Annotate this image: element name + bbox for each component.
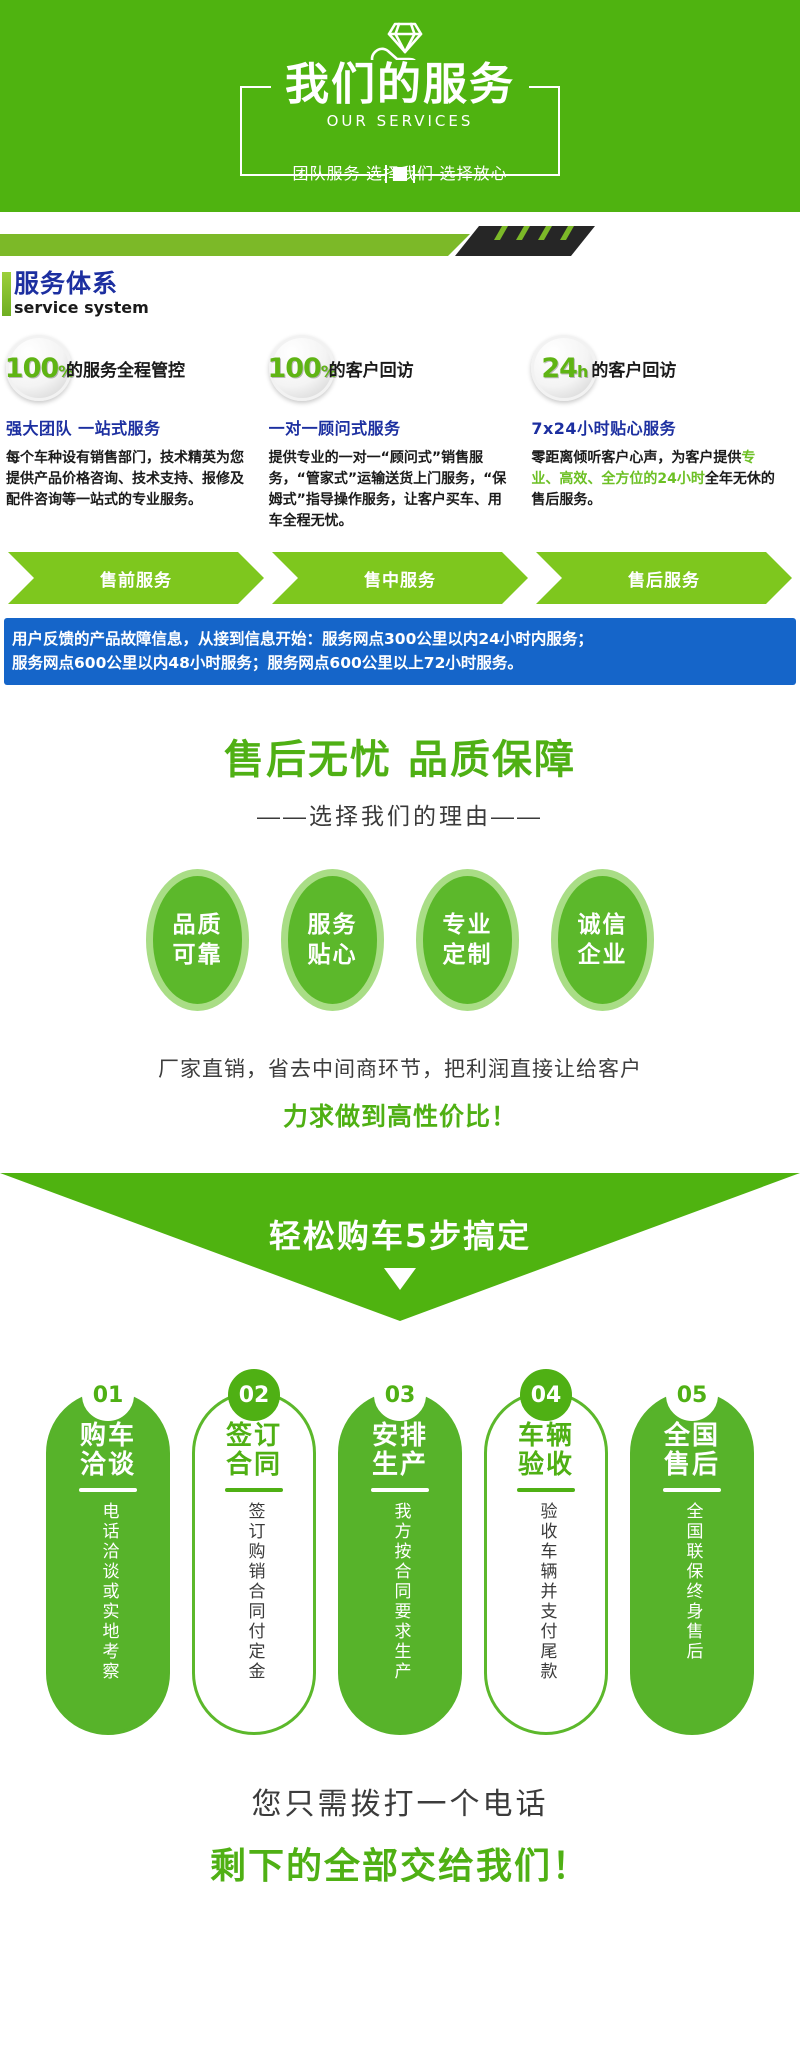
phase-arrow-presale[interactable]: 售前服务 [8,552,264,604]
step-description: 我方按合同要求生产 [389,1502,412,1712]
badge-item: 24h 的客户回访 [531,335,794,401]
step-card: 车辆 验收 验收车辆并支付尾款 [484,1391,608,1735]
step-heading: 签订 合同 [226,1422,282,1480]
reasons-subtitle: ——选择我们的理由—— [0,797,800,831]
reason-oval: 诚信 企业 [551,869,654,1011]
step-number-badge: 04 [520,1369,572,1421]
badge-number: 100% [5,353,73,384]
step-heading-line2: 验收 [518,1451,574,1480]
feature-title: 7x24小时贴心服务 [531,415,778,439]
badge-circle-icon: 100% [6,335,72,401]
step-number-badge: 05 [666,1369,718,1421]
badge-circle-icon: 100% [269,335,335,401]
step-heading: 车辆 验收 [518,1422,574,1480]
phase-arrow-duringsale[interactable]: 售中服务 [272,552,528,604]
footer-line-2: 剩下的全部交给我们！ [0,1837,800,1923]
step-card: 签订 合同 签订购销合同付定金 [192,1391,316,1735]
decorative-ribbon [0,220,800,260]
purchase-step-01[interactable]: 01 购车 洽谈 电话洽谈或实地考察 [46,1369,170,1735]
big-arrow-label: 轻松购车5步搞定 [0,1211,800,1257]
feature-column: 一对一顾问式服务 提供专业的一对一“顾问式”销售服务，“管家式”运输送货上门服务… [269,415,532,532]
badge-item: 100% 的服务全程管控 [6,335,269,401]
step-heading-line1: 车辆 [518,1422,574,1451]
step-heading: 安排 生产 [372,1422,428,1480]
policy-line-2: 服务网点600公里以内48小时服务；服务网点600公里以上72小时服务。 [12,651,788,675]
step-heading-line2: 生产 [372,1451,428,1480]
step-card: 购车 洽谈 电话洽谈或实地考察 [46,1391,170,1735]
step-heading-line2: 合同 [226,1451,282,1480]
reason-oval-line1: 诚信 [578,910,628,940]
service-landing-page: 我们的服务 OUR SERVICES ——团队服务 选择我们 选择放心—— 服务… [0,0,800,2061]
step-heading: 全国 售后 [664,1422,720,1480]
step-card: 全国 售后 全国联保终身售后 [630,1391,754,1735]
badge-label: 的客户回访 [591,356,676,381]
purchase-step-row: 01 购车 洽谈 电话洽谈或实地考察 02 签订 合同 签订购销合同付定金 [0,1369,800,1735]
phase-arrow-aftersale[interactable]: 售后服务 [536,552,792,604]
purchase-steps-banner: 轻松购车5步搞定 [0,1173,800,1323]
step-heading-line1: 安排 [372,1422,428,1451]
reason-oval-line2: 定制 [443,940,493,970]
ribbon-green-bar [0,234,470,256]
step-heading: 购车 洽谈 [80,1422,136,1480]
section-title-cn: 服务体系 [14,270,800,297]
reason-oval-line2: 贴心 [308,940,358,970]
feature-body: 零距离倾听客户心声，为客户提供专业、高效、全方位的24小时全年无休的售后服务。 [531,448,778,511]
feature-title: 强大团队 一站式服务 [6,415,253,439]
reason-oval: 专业 定制 [416,869,519,1011]
policy-line-1: 用户反馈的产品故障信息，从接到信息开始：服务网点300公里以内24小时内服务； [12,627,788,651]
section-heading: 服务体系 service system [0,260,800,317]
badge-row: 100% 的服务全程管控 100% 的客户回访 24h 的客户回访 [0,335,800,401]
step-divider [517,1488,575,1492]
reason-oval-line1: 品质 [173,910,223,940]
feature-body: 提供专业的一对一“顾问式”销售服务，“管家式”运输送货上门服务，“保姆式”指导操… [269,448,516,532]
feature-column: 强大团队 一站式服务 每个车种设有销售部门，技术精英为您提供产品价格咨询、技术支… [6,415,269,532]
step-divider [225,1488,283,1492]
step-heading-line1: 签订 [226,1422,282,1451]
footer-line-1: 您只需拨打一个电话 [0,1779,800,1823]
reason-oval-line2: 可靠 [173,940,223,970]
purchase-step-02[interactable]: 02 签订 合同 签订购销合同付定金 [192,1369,316,1735]
step-description: 电话洽谈或实地考察 [97,1502,120,1712]
badge-number: 24h [541,353,587,384]
reason-oval: 服务 贴心 [281,869,384,1011]
badge-number: 100% [267,353,335,384]
step-divider [663,1488,721,1492]
promo-line-1: 厂家直销，省去中间商环节，把利润直接让给客户 [0,1053,800,1083]
step-description: 验收车辆并支付尾款 [535,1502,558,1712]
step-number-badge: 02 [228,1369,280,1421]
hero-tagline: ——团队服务 选择我们 选择放心—— [0,160,800,184]
feature-row: 强大团队 一站式服务 每个车种设有销售部门，技术精英为您提供产品价格咨询、技术支… [0,415,800,532]
step-description: 签订购销合同付定金 [243,1502,266,1712]
purchase-step-03[interactable]: 03 安排 生产 我方按合同要求生产 [338,1369,462,1735]
section-heading-accent-bar [2,272,11,316]
reason-oval-line1: 服务 [308,910,358,940]
step-number-badge: 03 [374,1369,426,1421]
step-heading-line2: 售后 [664,1451,720,1480]
service-phase-arrows: 售前服务 售中服务 售后服务 [0,552,800,604]
reasons-title: 售后无忧 品质保障 [0,727,800,785]
phase-arrow-label: 售后服务 [628,566,700,591]
feature-title: 一对一顾问式服务 [269,415,516,439]
step-divider [371,1488,429,1492]
step-heading-line1: 购车 [80,1422,136,1451]
step-divider [79,1488,137,1492]
chevron-down-icon [384,1268,416,1290]
step-number-badge: 01 [82,1369,134,1421]
purchase-step-05[interactable]: 05 全国 售后 全国联保终身售后 [630,1369,754,1735]
page-title: 我们的服务 [271,60,529,110]
phase-arrow-label: 售前服务 [100,566,172,591]
step-description: 全国联保终身售后 [681,1502,704,1712]
badge-label: 的服务全程管控 [66,356,185,381]
purchase-step-04[interactable]: 04 车辆 验收 验收车辆并支付尾款 [484,1369,608,1735]
badge-circle-icon: 24h [531,335,597,401]
step-heading-line2: 洽谈 [80,1451,136,1480]
hero-banner: 我们的服务 OUR SERVICES ——团队服务 选择我们 选择放心—— [0,0,800,212]
step-card: 安排 生产 我方按合同要求生产 [338,1391,462,1735]
feature-column: 7x24小时贴心服务 零距离倾听客户心声，为客户提供专业、高效、全方位的24小时… [531,415,794,532]
reason-oval-row: 品质 可靠 服务 贴心 专业 定制 诚信 企业 [0,869,800,1011]
promo-line-2: 力求做到高性价比！ [0,1097,800,1133]
service-policy-note: 用户反馈的产品故障信息，从接到信息开始：服务网点300公里以内24小时内服务； … [4,618,796,685]
section-title-en: service system [14,298,800,317]
reason-oval: 品质 可靠 [146,869,249,1011]
hero-title-wrap: 我们的服务 [0,60,800,110]
badge-item: 100% 的客户回访 [269,335,532,401]
hero-subtitle: OUR SERVICES [0,112,800,130]
badge-label: 的客户回访 [329,356,414,381]
step-heading-line1: 全国 [664,1422,720,1451]
reason-oval-line2: 企业 [578,940,628,970]
feature-body: 每个车种设有销售部门，技术精英为您提供产品价格咨询、技术支持、报修及配件咨询等一… [6,448,253,511]
phase-arrow-label: 售中服务 [364,566,436,591]
reason-oval-line1: 专业 [443,910,493,940]
feature-body-pre: 零距离倾听客户心声，为客户提供 [531,450,741,466]
